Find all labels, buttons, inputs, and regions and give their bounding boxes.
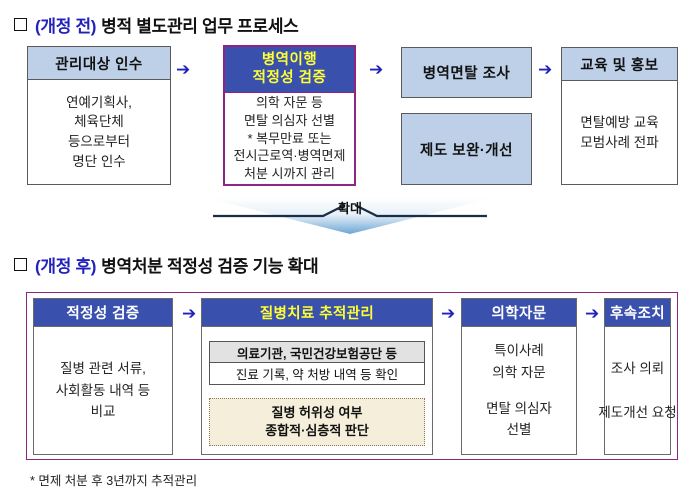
before-step-5-body: 면탈예방 교육 모범사례 전파 bbox=[562, 81, 677, 184]
after-column-3[interactable]: 의학자문 특이사례 의학 자문 면탈 의심자 선별 bbox=[461, 298, 577, 455]
after-column-1-header: 적정성 검증 bbox=[34, 299, 172, 327]
before-step-1[interactable]: 관리대상 인수 연예기획사, 체육단체 등으로부터 명단 인수 bbox=[27, 46, 171, 185]
before-title-text: 병적 별도관리 업무 프로세스 bbox=[101, 17, 298, 36]
before-step-5-header: 교육 및 홍보 bbox=[562, 48, 677, 81]
after-column-4[interactable]: 후속조치 조사 의뢰 제도개선 요청 bbox=[604, 298, 671, 455]
after-column-4-line1: 조사 의뢰 bbox=[611, 358, 664, 380]
before-arrow-2-icon: ➔ bbox=[369, 62, 383, 79]
after-column-4-body: 조사 의뢰 제도개선 요청 bbox=[605, 327, 670, 454]
before-step-2-highlighted[interactable]: 병역이행 적정성 검증 의학 자문 등 면탈 의심자 선별 * 복무만료 또는 … bbox=[223, 45, 356, 186]
after-column-2-inner-top: 의료기관, 국민건강보험공단 등 bbox=[210, 342, 424, 363]
expand-indicator: 확대 bbox=[205, 196, 495, 236]
before-step-4[interactable]: 제도 보완·개선 bbox=[401, 113, 532, 185]
after-column-3-body: 특이사례 의학 자문 면탈 의심자 선별 bbox=[462, 327, 576, 454]
after-column-2-inner-stack[interactable]: 의료기관, 국민건강보험공단 등 진료 기록, 약 처방 내역 등 확인 bbox=[209, 341, 425, 385]
after-arrow-3-icon: ➔ bbox=[585, 306, 599, 323]
before-arrow-3-icon: ➔ bbox=[538, 62, 552, 79]
after-arrow-2-icon: ➔ bbox=[441, 306, 455, 323]
after-column-1[interactable]: 적정성 검증 질병 관련 서류, 사회활동 내역 등 비교 bbox=[33, 298, 173, 455]
before-section-title: (개정 전)병적 별도관리 업무 프로세스 bbox=[14, 12, 299, 37]
after-column-1-body: 질병 관련 서류, 사회활동 내역 등 비교 bbox=[34, 327, 172, 454]
before-step-2-header-line2: 적정성 검증 bbox=[253, 70, 327, 88]
after-column-4-line2: 제도개선 요청 bbox=[598, 402, 676, 424]
footnote: * 면제 처분 후 3년까지 추적관리 bbox=[30, 470, 197, 489]
before-step-3[interactable]: 병역면탈 조사 bbox=[401, 47, 532, 98]
before-step-2-body: 의학 자문 등 면탈 의심자 선별 * 복무만료 또는 전시근로역·병역면제 처… bbox=[225, 93, 354, 184]
after-column-2-inner-bottom: 진료 기록, 약 처방 내역 등 확인 bbox=[210, 363, 424, 384]
after-title-text: 병역처분 적정성 검증 기능 확대 bbox=[101, 257, 318, 276]
after-column-3-header: 의학자문 bbox=[462, 299, 576, 327]
expand-label: 확대 bbox=[205, 198, 495, 217]
after-column-2-note[interactable]: 질병 허위성 여부 종합적·심층적 판단 bbox=[209, 398, 425, 446]
after-arrow-1-icon: ➔ bbox=[182, 306, 196, 323]
after-column-4-header: 후속조치 bbox=[605, 299, 670, 327]
after-section-title: (개정 후)병역처분 적정성 검증 기능 확대 bbox=[14, 252, 318, 277]
after-column-2-note-line2: 종합적·심층적 판단 bbox=[265, 422, 369, 440]
bullet-square-icon bbox=[14, 18, 27, 31]
before-step-2-header-line1: 병역이행 bbox=[262, 52, 317, 70]
bullet-square-icon-2 bbox=[14, 258, 27, 271]
before-step-1-header: 관리대상 인수 bbox=[28, 47, 170, 80]
after-column-3-line1: 특이사례 의학 자문 bbox=[492, 340, 545, 383]
after-title-revision: (개정 후) bbox=[35, 257, 96, 276]
before-step-5[interactable]: 교육 및 홍보 면탈예방 교육 모범사례 전파 bbox=[561, 47, 678, 185]
before-arrow-1-icon: ➔ bbox=[176, 62, 190, 79]
before-step-1-body: 연예기획사, 체육단체 등으로부터 명단 인수 bbox=[28, 80, 170, 184]
before-step-2-header: 병역이행 적정성 검증 bbox=[225, 47, 354, 93]
after-column-2-note-line1: 질병 허위성 여부 bbox=[272, 404, 363, 422]
before-title-revision: (개정 전) bbox=[35, 17, 96, 36]
after-column-3-line2: 면탈 의심자 선별 bbox=[486, 398, 552, 441]
after-column-2-header: 질병치료 추적관리 bbox=[202, 299, 432, 327]
